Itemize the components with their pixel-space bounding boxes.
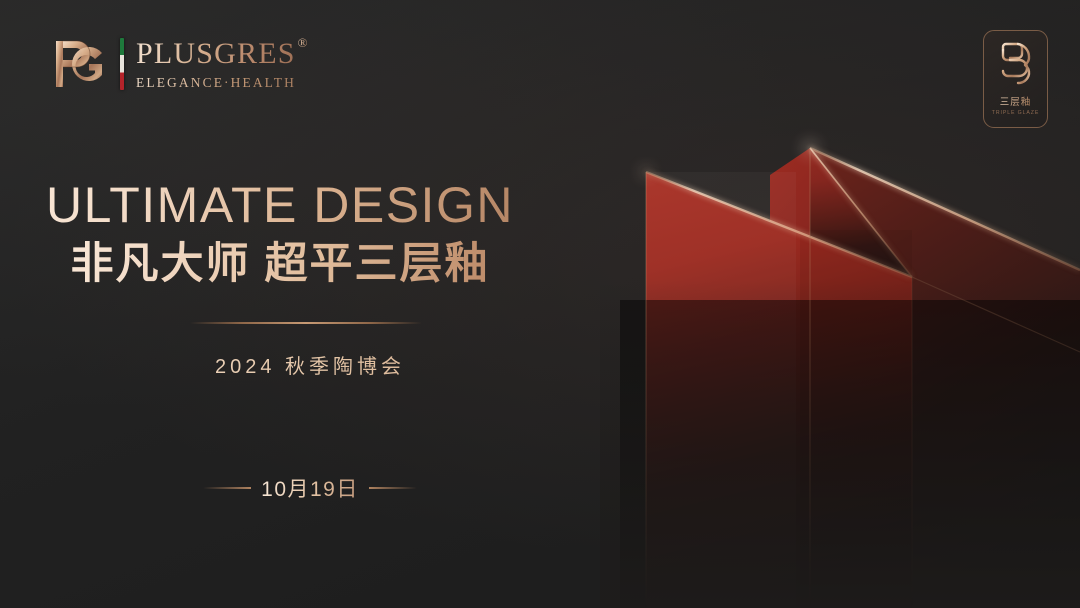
date-dash-left <box>203 487 251 488</box>
brand-logo: PLUSGRES ® ELEGANCE·HEALTH <box>52 33 308 95</box>
page-title-english: ULTIMATE DESIGN <box>0 178 560 232</box>
event-date: 10月19日 <box>261 473 359 503</box>
badge-label-en: TRIPLE GLAZE <box>992 110 1039 116</box>
page-title-chinese: 非凡大师 超平三层釉 <box>0 238 560 292</box>
italian-flag-divider-icon <box>120 38 124 90</box>
poster-canvas: PLUSGRES ® ELEGANCE·HEALTH <box>0 0 1080 608</box>
divider-rule <box>190 322 422 324</box>
triple-glaze-badge: 三层釉 TRIPLE GLAZE <box>983 30 1048 128</box>
headline-block: ULTIMATE DESIGN 非凡大师 超平三层釉 <box>0 178 560 292</box>
brand-name: PLUSGRES <box>136 39 296 69</box>
stylized-three-icon <box>996 40 1036 85</box>
brand-tagline: ELEGANCE·HEALTH <box>136 75 308 91</box>
pg-monogram-icon <box>52 35 110 93</box>
registered-trademark-icon: ® <box>298 36 308 49</box>
date-dash-right <box>369 487 417 488</box>
brand-wordmark: PLUSGRES ® ELEGANCE·HEALTH <box>136 33 308 95</box>
event-name: 2024 秋季陶博会 <box>0 350 620 379</box>
event-date-row: 10月19日 <box>0 473 620 503</box>
badge-label-cn: 三层釉 <box>1000 94 1032 108</box>
